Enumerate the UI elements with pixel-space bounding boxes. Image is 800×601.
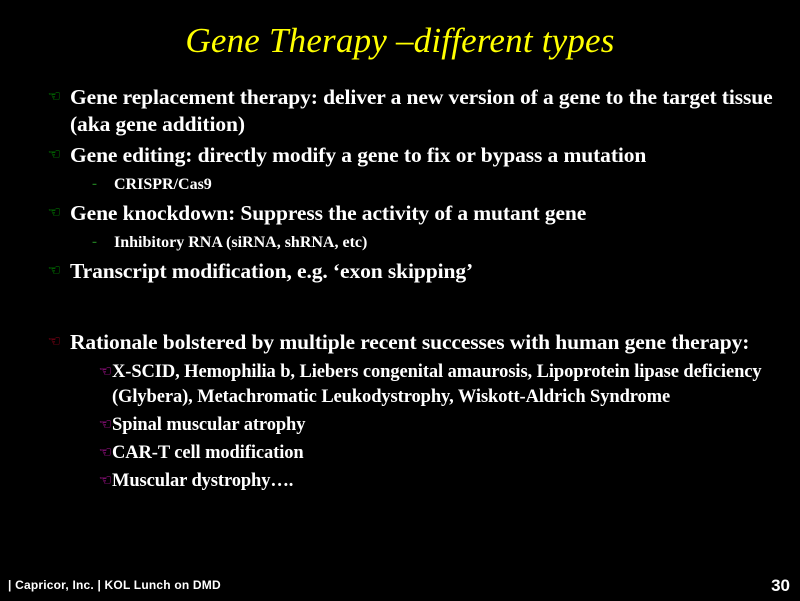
bullet-text: Gene replacement therapy: deliver a new … <box>70 84 774 138</box>
sub-bullet-text: X-SCID, Hemophilia b, Liebers congenital… <box>112 360 774 410</box>
ornate-bullet-icon: ☞ <box>94 469 112 494</box>
ornate-bullet-icon: ☞ <box>44 142 70 169</box>
ornate-bullet-icon: ☞ <box>94 413 112 438</box>
vertical-spacer <box>44 289 774 329</box>
ornate-bullet-icon: ☞ <box>44 84 70 111</box>
dash-bullet-icon: - <box>92 173 114 196</box>
sub-bullet-item-spinal-muscular-atrophy: ☞ Spinal muscular atrophy <box>94 413 774 438</box>
sub-bullet-text: Muscular dystrophy…. <box>112 469 774 494</box>
bullet-text: Gene editing: directly modify a gene to … <box>70 142 774 169</box>
bullet-item-gene-editing: ☞ Gene editing: directly modify a gene t… <box>44 142 774 169</box>
bullet-text: Gene knockdown: Suppress the activity of… <box>70 200 774 227</box>
sub-bullet-text: CRISPR/Cas9 <box>114 173 774 196</box>
slide-footer: | Capricor, Inc. | KOL Lunch on DMD <box>8 578 221 592</box>
sub-bullet-item-car-t-cell-modification: ☞ CAR-T cell modification <box>94 441 774 466</box>
ornate-bullet-icon: ☞ <box>44 258 70 285</box>
slide-body: ☞ Gene replacement therapy: deliver a ne… <box>44 84 774 497</box>
sub-bullet-item-disease-list: ☞ X-SCID, Hemophilia b, Liebers congenit… <box>94 360 774 410</box>
bullet-item-gene-replacement-therapy: ☞ Gene replacement therapy: deliver a ne… <box>44 84 774 138</box>
sub-bullet-text: Spinal muscular atrophy <box>112 413 774 438</box>
dash-bullet-icon: - <box>92 231 114 254</box>
sub-bullet-item-crispr: - CRISPR/Cas9 <box>92 173 774 196</box>
bullet-item-gene-knockdown: ☞ Gene knockdown: Suppress the activity … <box>44 200 774 227</box>
sub-bullet-text: CAR-T cell modification <box>112 441 774 466</box>
presentation-slide: Gene Therapy –different types ☞ Gene rep… <box>0 0 800 601</box>
ornate-bullet-icon: ☞ <box>94 360 112 385</box>
bullet-text: Transcript modification, e.g. ‘exon skip… <box>70 258 774 285</box>
sub-bullet-item-inhibitory-rna: - Inhibitory RNA (siRNA, shRNA, etc) <box>92 231 774 254</box>
ornate-bullet-icon: ☞ <box>44 329 70 356</box>
ornate-bullet-icon: ☞ <box>44 200 70 227</box>
bullet-item-transcript-modification: ☞ Transcript modification, e.g. ‘exon sk… <box>44 258 774 285</box>
sub-bullet-text: Inhibitory RNA (siRNA, shRNA, etc) <box>114 231 774 254</box>
sub-bullet-item-muscular-dystrophy: ☞ Muscular dystrophy…. <box>94 469 774 494</box>
bullet-item-rationale: ☞ Rationale bolstered by multiple recent… <box>44 329 774 356</box>
ornate-bullet-icon: ☞ <box>94 441 112 466</box>
page-number: 30 <box>771 576 790 596</box>
page-title: Gene Therapy –different types <box>0 21 800 61</box>
bullet-text: Rationale bolstered by multiple recent s… <box>70 329 774 356</box>
